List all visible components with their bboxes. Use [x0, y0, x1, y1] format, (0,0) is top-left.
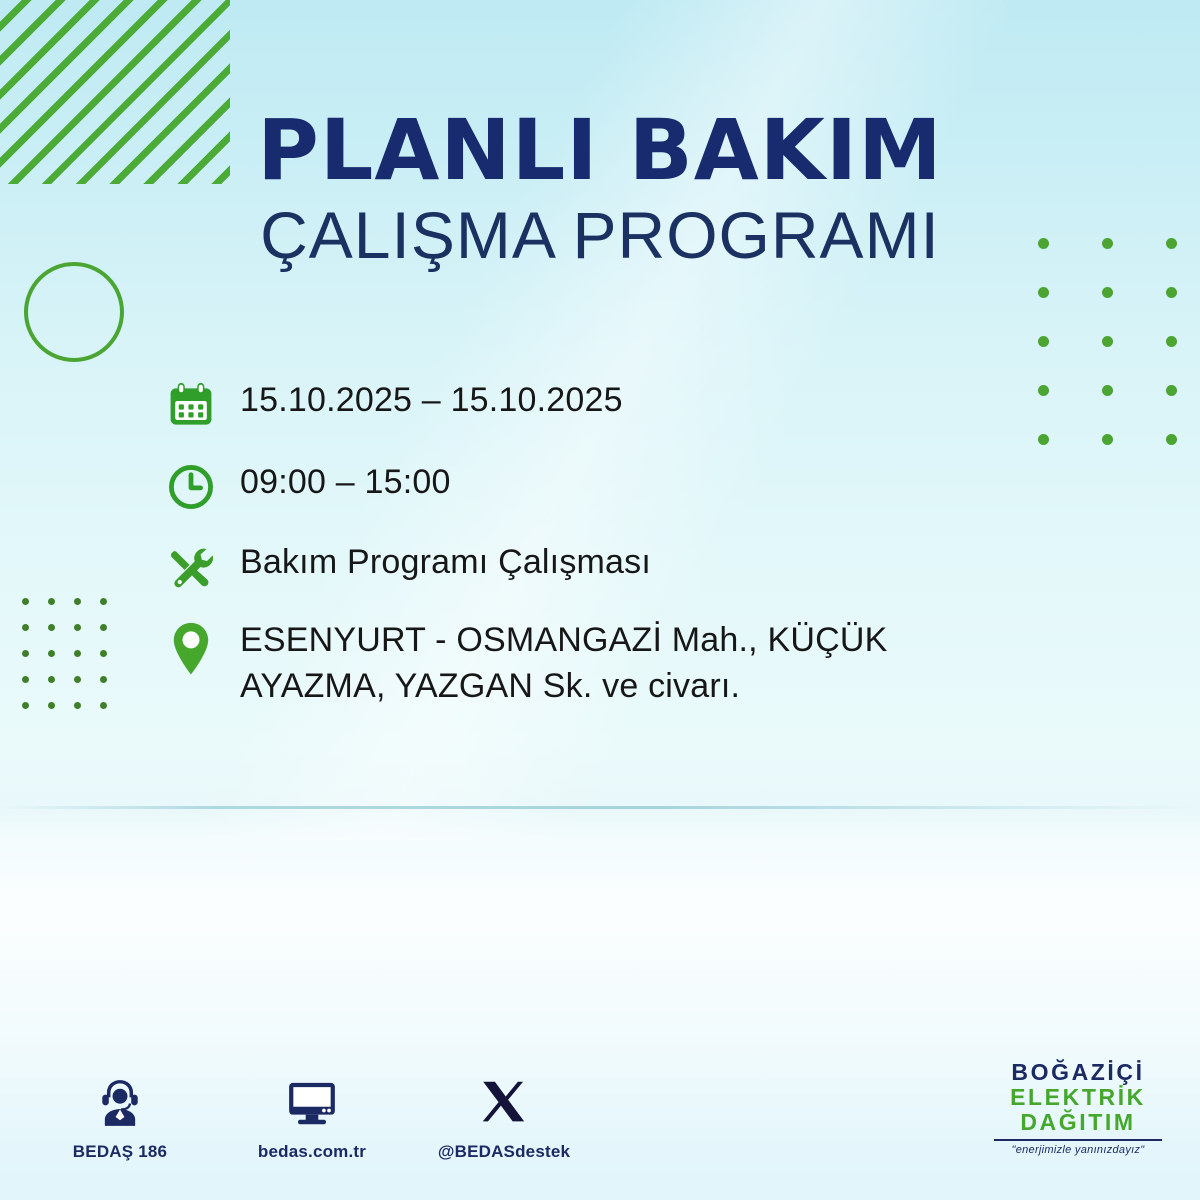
logo-line-bogazici: BOĞAZİÇİ: [990, 1060, 1166, 1085]
logo-line-dagitim: DAĞITIM: [990, 1110, 1166, 1135]
circle-outline-decoration: [24, 262, 124, 362]
dot-grid-left-decoration: [22, 598, 126, 728]
contact-call-center[interactable]: BEDAŞ 186: [50, 1072, 190, 1162]
x-twitter-icon: [434, 1072, 574, 1134]
detail-time-range: 09:00 – 15:00: [240, 460, 451, 506]
contact-website[interactable]: bedas.com.tr: [242, 1072, 382, 1162]
detail-work-type: Bakım Programı Çalışması: [240, 540, 651, 586]
logo-tagline: "enerjimizle yanınızdayız": [990, 1144, 1166, 1156]
clock-icon: [166, 460, 240, 512]
dot-grid-right-decoration: [1038, 238, 1200, 483]
contact-x-account[interactable]: @BEDASdestek: [434, 1072, 574, 1162]
title-line-1: PLANLI BAKIM: [0, 108, 1200, 192]
contact-call-center-label: BEDAŞ 186: [50, 1142, 190, 1162]
detail-date-range: 15.10.2025 – 15.10.2025: [240, 378, 623, 424]
headset-support-icon: [50, 1072, 190, 1134]
tools-icon: [166, 540, 240, 592]
maintenance-details-list: 15.10.2025 – 15.10.2025 09:00 – 15:00: [166, 378, 1046, 735]
page-title: PLANLI BAKIM ÇALIŞMA PROGRAMI: [0, 108, 1200, 268]
monitor-icon: [242, 1072, 382, 1134]
bedas-logo: BOĞAZİÇİ ELEKTRİK DAĞITIM "enerjimizle y…: [990, 1060, 1166, 1156]
calendar-icon: [166, 378, 240, 430]
contact-website-label: bedas.com.tr: [242, 1142, 382, 1162]
detail-row-time: 09:00 – 15:00: [166, 460, 1046, 512]
location-pin-icon: [166, 618, 240, 678]
footer-contacts: BEDAŞ 186 bedas.com.tr @B: [50, 1072, 574, 1162]
detail-location: ESENYURT - OSMANGAZİ Mah., KÜÇÜK AYAZMA,…: [240, 618, 960, 709]
logo-divider: [994, 1139, 1162, 1141]
logo-line-elektrik: ELEKTRİK: [990, 1085, 1166, 1110]
detail-row-date: 15.10.2025 – 15.10.2025: [166, 378, 1046, 430]
detail-row-work-type: Bakım Programı Çalışması: [166, 540, 1046, 592]
planned-maintenance-poster: PLANLI BAKIM ÇALIŞMA PROGRAMI: [0, 0, 1200, 1200]
background-divider-band: [0, 806, 1200, 809]
contact-x-label: @BEDASdestek: [434, 1142, 574, 1162]
title-line-2: ÇALIŞMA PROGRAMI: [0, 202, 1200, 268]
detail-row-location: ESENYURT - OSMANGAZİ Mah., KÜÇÜK AYAZMA,…: [166, 618, 1046, 709]
